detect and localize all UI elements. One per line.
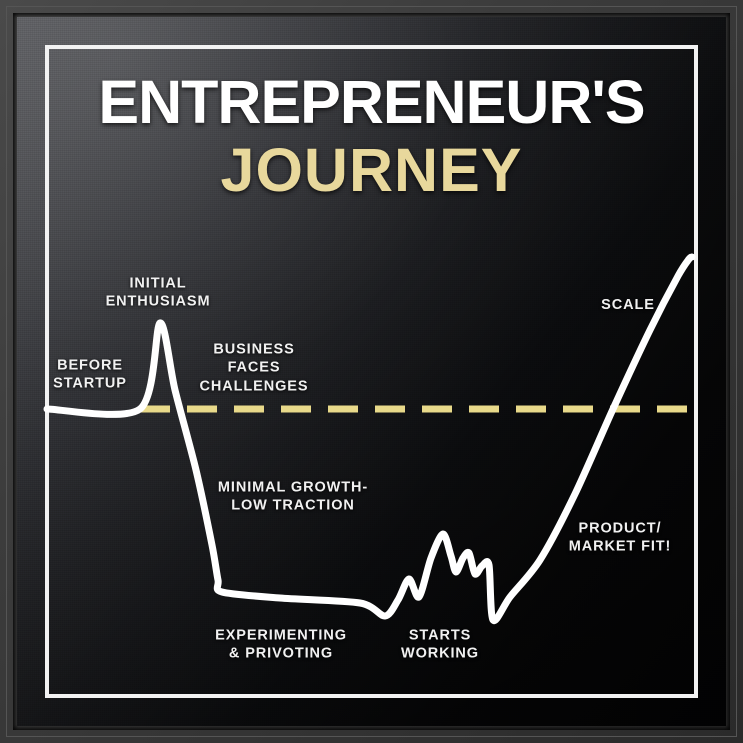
journey-chart: BEFORE STARTUPINITIAL ENTHUSIASMBUSINESS… (17, 17, 726, 726)
journey-chart-svg (17, 17, 726, 726)
journey-line-series (47, 257, 692, 621)
poster-canvas: ENTREPRENEUR'S JOURNEY BEFORE STARTUPINI… (17, 17, 726, 726)
artwork-frame: ENTREPRENEUR'S JOURNEY BEFORE STARTUPINI… (0, 0, 743, 743)
journey-line-path (47, 257, 692, 621)
